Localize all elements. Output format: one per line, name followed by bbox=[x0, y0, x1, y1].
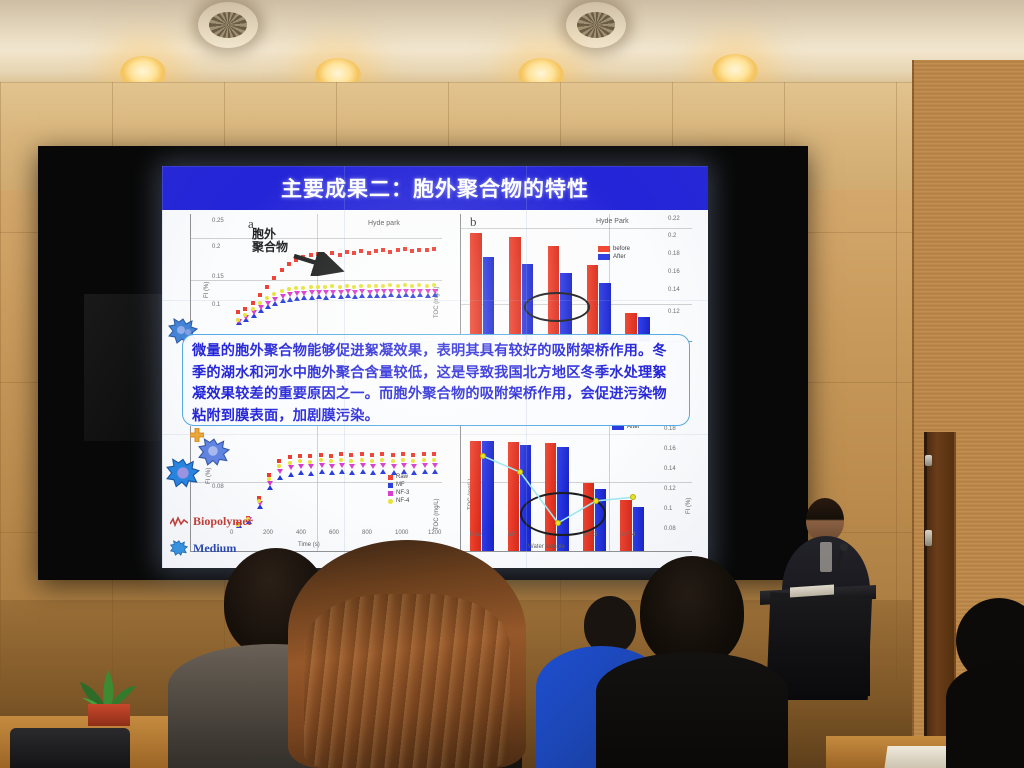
data-point bbox=[265, 301, 271, 306]
chart-d-xtick-NF-3: NF-3 bbox=[584, 532, 597, 538]
fi-marker bbox=[593, 498, 599, 504]
biopolymer-blob-icon bbox=[198, 438, 230, 466]
data-point bbox=[411, 470, 417, 475]
data-point bbox=[380, 458, 384, 462]
data-point bbox=[277, 475, 283, 480]
data-point bbox=[349, 459, 353, 463]
data-point bbox=[294, 286, 298, 290]
data-point bbox=[349, 453, 353, 457]
data-point bbox=[359, 284, 363, 288]
data-point bbox=[301, 295, 307, 300]
data-point bbox=[251, 301, 255, 305]
fi-marker bbox=[480, 453, 486, 459]
ceiling-vent-icon bbox=[198, 2, 258, 48]
data-point bbox=[403, 289, 409, 294]
fi-marker bbox=[630, 494, 636, 500]
legend-marker-nf4-icon bbox=[388, 499, 393, 504]
legend-label: After bbox=[613, 254, 626, 260]
attendee-body bbox=[596, 652, 788, 768]
data-point bbox=[359, 289, 365, 294]
chart-c-xtick: 1200 bbox=[428, 530, 441, 536]
attendee-dark-hair bbox=[596, 556, 788, 768]
data-point bbox=[388, 283, 392, 287]
data-point bbox=[396, 248, 400, 252]
data-point bbox=[339, 458, 343, 462]
data-point bbox=[396, 289, 402, 294]
data-point bbox=[360, 463, 366, 468]
data-point bbox=[287, 297, 293, 302]
legend-marker-raw-icon bbox=[388, 475, 393, 480]
data-point bbox=[287, 287, 291, 291]
door-handle-icon[interactable] bbox=[925, 530, 932, 546]
chart-c-legend: Raw MF NF-3 NF-4 bbox=[388, 474, 409, 506]
data-point bbox=[272, 297, 278, 302]
data-point bbox=[236, 310, 240, 314]
data-point bbox=[411, 459, 415, 463]
data-point bbox=[319, 469, 325, 474]
data-point bbox=[257, 499, 261, 503]
ceiling bbox=[0, 0, 1024, 60]
data-point bbox=[367, 284, 371, 288]
data-point bbox=[298, 459, 302, 463]
data-point bbox=[381, 293, 387, 298]
data-point bbox=[309, 290, 315, 295]
page-title: 主要成果二：胞外聚合物的特性 bbox=[281, 173, 589, 203]
data-point bbox=[287, 292, 293, 297]
data-point bbox=[432, 458, 436, 462]
data-point bbox=[370, 470, 376, 475]
data-point bbox=[308, 471, 314, 476]
data-point bbox=[360, 458, 364, 462]
data-point bbox=[280, 268, 284, 272]
data-point bbox=[422, 452, 426, 456]
fi-marker bbox=[555, 520, 561, 526]
data-point bbox=[258, 305, 264, 310]
data-point bbox=[288, 465, 294, 470]
data-point bbox=[329, 454, 333, 458]
data-point bbox=[425, 289, 431, 294]
data-point bbox=[308, 460, 312, 464]
chart-d-y2tick: 0.08 bbox=[664, 526, 676, 532]
data-point bbox=[329, 464, 335, 469]
chart-b-legend: before After bbox=[598, 246, 630, 262]
data-point bbox=[370, 459, 374, 463]
data-point bbox=[280, 289, 284, 293]
data-point bbox=[308, 464, 314, 469]
data-point bbox=[432, 463, 438, 468]
legend-item: Raw bbox=[388, 474, 409, 480]
data-point bbox=[417, 289, 423, 294]
data-point bbox=[288, 461, 292, 465]
conference-hall-photo: 主要成果二：胞外聚合物的特性 a Hyde park 0.25 0.2 0.15… bbox=[0, 0, 1024, 768]
data-point bbox=[391, 453, 395, 457]
data-point bbox=[265, 285, 269, 289]
legend-item: before bbox=[598, 246, 630, 252]
data-point bbox=[432, 289, 438, 294]
data-point bbox=[323, 295, 329, 300]
ceiling-vent-icon bbox=[566, 2, 626, 48]
chart-panel-a: a Hyde park 0.25 0.2 0.15 0.1 FI (%) TOC… bbox=[190, 214, 442, 342]
data-point bbox=[381, 284, 385, 288]
data-point bbox=[374, 284, 378, 288]
biopolymer-blob-icon bbox=[166, 458, 200, 488]
annotation-arrow-icon bbox=[292, 252, 350, 276]
data-point bbox=[374, 289, 380, 294]
chart-b-y2tick: 0.14 bbox=[668, 287, 680, 293]
chart-a-points bbox=[190, 214, 442, 342]
data-point bbox=[432, 283, 436, 287]
data-point bbox=[367, 290, 373, 295]
data-point bbox=[422, 458, 426, 462]
bar-after-NF-4 bbox=[633, 507, 644, 551]
chair-left bbox=[10, 728, 130, 768]
chart-d-y2tick: 0.16 bbox=[664, 446, 676, 452]
data-point bbox=[308, 454, 312, 458]
data-point bbox=[338, 285, 342, 289]
data-point bbox=[345, 284, 349, 288]
data-point bbox=[417, 248, 421, 252]
door-hinge-icon bbox=[925, 455, 932, 466]
data-point bbox=[323, 285, 327, 289]
data-point bbox=[352, 285, 356, 289]
data-point bbox=[380, 469, 386, 474]
data-point bbox=[349, 470, 355, 475]
data-point bbox=[294, 296, 300, 301]
data-point bbox=[258, 301, 262, 305]
data-point bbox=[432, 247, 436, 251]
chart-d-xtick-NF-4: NF-4 bbox=[622, 532, 635, 538]
attendee-long-hair bbox=[288, 540, 526, 768]
data-point bbox=[380, 452, 384, 456]
data-point bbox=[411, 453, 415, 457]
chart-d-xtick-Raw: Raw bbox=[470, 532, 482, 538]
data-point bbox=[403, 283, 407, 287]
callout-text: 微量的胞外聚合物能够促进絮凝效果，表明其具有较好的吸附架桥作用。冬季的湖水和河水… bbox=[192, 341, 680, 427]
attendee-hair-strands bbox=[304, 594, 510, 768]
chart-c-xtick: 1000 bbox=[395, 530, 408, 536]
data-point bbox=[410, 289, 416, 294]
data-point bbox=[301, 286, 305, 290]
legend-marker-mf-icon bbox=[388, 483, 393, 488]
data-point bbox=[294, 291, 300, 296]
microphone-head-icon bbox=[840, 543, 848, 551]
data-point bbox=[316, 285, 320, 289]
data-point bbox=[391, 464, 397, 469]
data-point bbox=[374, 293, 380, 298]
data-point bbox=[388, 250, 392, 254]
data-point bbox=[391, 459, 395, 463]
data-point bbox=[323, 290, 329, 295]
legend-marker-nf3-icon bbox=[388, 491, 393, 496]
data-point bbox=[265, 296, 269, 300]
data-point bbox=[370, 464, 376, 469]
legend-swatch-after-icon bbox=[598, 254, 610, 260]
legend-swatch-before-icon bbox=[598, 246, 610, 252]
data-point bbox=[403, 247, 407, 251]
chart-b-ellipse-annotation bbox=[524, 292, 590, 322]
squiggle-icon bbox=[170, 516, 188, 528]
chart-c-xtick: 400 bbox=[296, 530, 306, 536]
chart-b-y2tick: 0.18 bbox=[668, 251, 680, 257]
slide-title-bar: 主要成果二：胞外聚合物的特性 bbox=[162, 166, 708, 210]
chart-panel-d: 0.18 0.16 0.14 0.12 0.1 0.08 FI (%) TOC … bbox=[460, 426, 692, 552]
data-point bbox=[374, 249, 378, 253]
data-point bbox=[349, 464, 355, 469]
data-point bbox=[359, 249, 363, 253]
data-point bbox=[267, 485, 273, 490]
data-point bbox=[338, 290, 344, 295]
chart-d-y2tick: 0.1 bbox=[664, 506, 672, 512]
legend-item: NF-3 bbox=[388, 490, 409, 496]
bar-after-MF bbox=[520, 445, 531, 551]
chart-b-y2tick: 0.22 bbox=[668, 216, 680, 222]
chart-b-bars bbox=[464, 214, 658, 341]
data-point bbox=[339, 469, 345, 474]
legend-label: Raw bbox=[396, 474, 408, 480]
data-point bbox=[410, 249, 414, 253]
data-point bbox=[352, 290, 358, 295]
chart-panel-b: b Hyde Park 0.22 0.2 0.18 0.16 0.14 0.12… bbox=[460, 214, 692, 342]
data-point bbox=[329, 459, 333, 463]
legend-item: MF bbox=[388, 482, 409, 488]
data-point bbox=[432, 452, 436, 456]
data-point bbox=[277, 464, 281, 468]
data-point bbox=[422, 463, 428, 468]
data-point bbox=[339, 463, 345, 468]
data-point bbox=[417, 283, 421, 287]
chart-c-xtick: 600 bbox=[329, 530, 339, 536]
chart-c-xtick: 0 bbox=[230, 530, 233, 536]
chart-d-y2label: FI (%) bbox=[686, 498, 692, 514]
data-point bbox=[432, 469, 438, 474]
legend-item: After bbox=[598, 254, 630, 260]
data-point bbox=[319, 453, 323, 457]
plus-marker-icon bbox=[190, 428, 204, 442]
data-point bbox=[272, 292, 276, 296]
bar-after-Raw bbox=[483, 257, 495, 341]
presenter-shirt bbox=[820, 542, 832, 572]
data-point bbox=[316, 290, 322, 295]
data-point bbox=[345, 289, 351, 294]
data-point bbox=[352, 294, 358, 299]
data-point bbox=[360, 452, 364, 456]
data-point bbox=[410, 284, 414, 288]
bar-after-NF-3 bbox=[599, 283, 611, 341]
bar-before-NF-4 bbox=[620, 500, 631, 551]
chart-b-y2tick: 0.12 bbox=[668, 309, 680, 315]
data-point bbox=[396, 284, 400, 288]
data-point bbox=[298, 454, 302, 458]
data-point bbox=[381, 248, 385, 252]
data-point bbox=[319, 458, 323, 462]
attendee-body bbox=[946, 662, 1024, 768]
bar-before-Raw bbox=[470, 233, 482, 341]
data-point bbox=[388, 289, 394, 294]
slide-callout-box: 微量的胞外聚合物能够促进絮凝效果，表明其具有较好的吸附架桥作用。冬季的湖水和河水… bbox=[182, 334, 690, 426]
data-point bbox=[251, 310, 257, 315]
data-point bbox=[309, 295, 315, 300]
chart-d-y2tick: 0.12 bbox=[664, 486, 676, 492]
data-point bbox=[381, 289, 387, 294]
data-point bbox=[319, 463, 325, 468]
data-point bbox=[298, 464, 304, 469]
data-point bbox=[287, 262, 291, 266]
data-point bbox=[370, 453, 374, 457]
watermark-label: Biopolymer bbox=[193, 514, 253, 529]
data-point bbox=[280, 298, 286, 303]
chart-d-y2tick: 0.14 bbox=[664, 466, 676, 472]
data-point bbox=[339, 452, 343, 456]
chart-d-xtick-MF: MF bbox=[508, 532, 517, 538]
data-point bbox=[288, 455, 292, 459]
data-point bbox=[401, 463, 407, 468]
legend-item: NF-4 bbox=[388, 498, 409, 504]
data-point bbox=[272, 276, 276, 280]
legend-label: MF bbox=[396, 482, 405, 488]
chart-c-xtick: 200 bbox=[263, 530, 273, 536]
data-point bbox=[360, 469, 366, 474]
data-point bbox=[298, 470, 304, 475]
data-point bbox=[267, 481, 273, 486]
data-point bbox=[425, 284, 429, 288]
data-point bbox=[367, 251, 371, 255]
data-point bbox=[329, 470, 335, 475]
data-point bbox=[243, 307, 247, 311]
data-point bbox=[330, 290, 336, 295]
bar-before-MF bbox=[509, 237, 521, 341]
data-point bbox=[277, 469, 283, 474]
plant-pot bbox=[88, 704, 130, 726]
data-point bbox=[345, 293, 351, 298]
chart-b-y2tick: 0.2 bbox=[668, 233, 676, 239]
data-point bbox=[401, 458, 405, 462]
legend-label: NF-3 bbox=[396, 490, 409, 496]
legend-label: before bbox=[613, 246, 630, 252]
chart-b-y2tick: 0.16 bbox=[668, 269, 680, 275]
data-point bbox=[277, 459, 281, 463]
data-point bbox=[401, 452, 405, 456]
data-point bbox=[258, 293, 262, 297]
data-point bbox=[425, 248, 429, 252]
data-point bbox=[280, 294, 286, 299]
data-point bbox=[251, 307, 255, 311]
data-point bbox=[411, 464, 417, 469]
chart-d-xlabel: Water sample bbox=[528, 544, 565, 550]
data-point bbox=[301, 291, 307, 296]
slide-annotation-label: 胞外聚合物 bbox=[252, 228, 288, 255]
data-point bbox=[422, 469, 428, 474]
watermark-biopolymer: Biopolymer bbox=[170, 514, 253, 529]
presentation-slide: 主要成果二：胞外聚合物的特性 a Hyde park 0.25 0.2 0.15… bbox=[162, 166, 708, 568]
data-point bbox=[352, 251, 356, 255]
attendee-right-edge bbox=[946, 598, 1024, 768]
data-point bbox=[236, 318, 240, 322]
data-point bbox=[316, 294, 322, 299]
data-point bbox=[380, 463, 386, 468]
data-point bbox=[288, 472, 294, 477]
legend-label: NF-4 bbox=[396, 498, 409, 504]
data-point bbox=[309, 285, 313, 289]
data-point bbox=[330, 284, 334, 288]
chart-c-xtick: 800 bbox=[362, 530, 372, 536]
